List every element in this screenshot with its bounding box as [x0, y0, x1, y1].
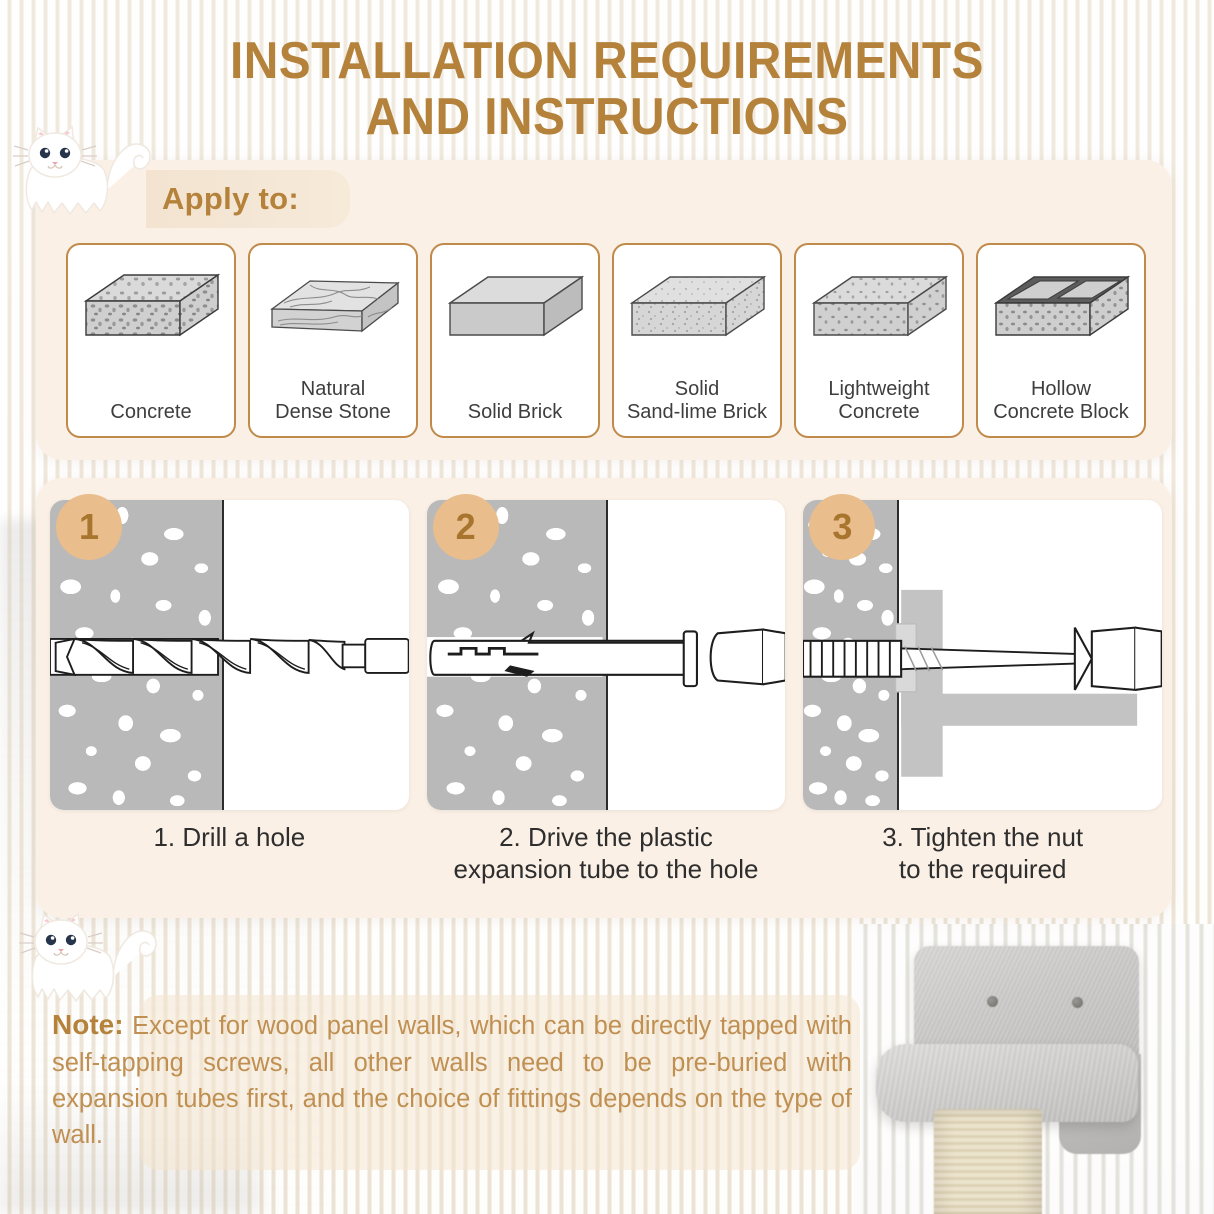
step-number-badge: 2	[433, 494, 499, 560]
note-text: Note: Except for wood panel walls, which…	[52, 1005, 852, 1153]
lightweight-concrete-icon	[804, 261, 954, 353]
installation-step-1: 1	[50, 500, 409, 900]
sand-lime-brick-icon	[622, 261, 772, 353]
material-label: SolidSand-lime Brick	[614, 378, 780, 424]
hollow-concrete-block-icon	[986, 261, 1136, 353]
cat-tail-icon	[107, 144, 150, 190]
material-card-solid-sand-lime-brick[interactable]: SolidSand-lime Brick	[612, 243, 782, 438]
material-card-natural-dense-stone[interactable]: NaturalDense Stone	[248, 243, 418, 438]
apply-to-label: Apply to:	[146, 181, 299, 217]
title-line-2: AND INSTRUCTIONS	[49, 90, 1166, 146]
installation-steps-list: 1	[50, 500, 1162, 900]
product-photo	[854, 924, 1214, 1214]
solid-brick-icon	[440, 261, 590, 353]
white-cat-illustration-top	[12, 118, 160, 228]
material-card-concrete[interactable]: Concrete	[66, 243, 236, 438]
page-title: INSTALLATION REQUIREMENTS AND INSTRUCTIO…	[49, 34, 1166, 145]
material-label: NaturalDense Stone	[250, 378, 416, 424]
photo-blur-overlay	[854, 924, 1214, 1214]
material-card-solid-brick[interactable]: Solid Brick	[430, 243, 600, 438]
title-line-1: INSTALLATION REQUIREMENTS	[230, 32, 984, 90]
apply-to-pill: Apply to:	[146, 170, 350, 228]
material-label: LightweightConcrete	[796, 378, 962, 424]
step-caption: 3. Tighten the nutto the required	[803, 822, 1162, 885]
concrete-block-icon	[76, 261, 226, 353]
step-caption: 2. Drive the plasticexpansion tube to th…	[427, 822, 786, 885]
installation-step-3: 3 3. T	[803, 500, 1162, 900]
material-label: Solid Brick	[432, 401, 598, 424]
step-caption: 1. Drill a hole	[50, 822, 409, 854]
note-body: Except for wood panel walls, which can b…	[52, 1012, 852, 1149]
natural-stone-icon	[258, 261, 408, 353]
installation-step-2: 2 2. Drive the plasticexpansion tube to …	[427, 500, 786, 900]
step-number-badge: 1	[56, 494, 122, 560]
step-number-badge: 3	[809, 494, 875, 560]
white-cat-illustration-bottom	[18, 905, 166, 1015]
material-label: Concrete	[68, 401, 234, 424]
material-label: HollowConcrete Block	[978, 378, 1144, 424]
material-card-lightweight-concrete[interactable]: LightweightConcrete	[794, 243, 964, 438]
material-card-list: Concrete NaturalDense Stone Solid Brick	[66, 243, 1146, 438]
material-card-hollow-concrete-block[interactable]: HollowConcrete Block	[976, 243, 1146, 438]
cat-tail-icon	[113, 931, 156, 977]
